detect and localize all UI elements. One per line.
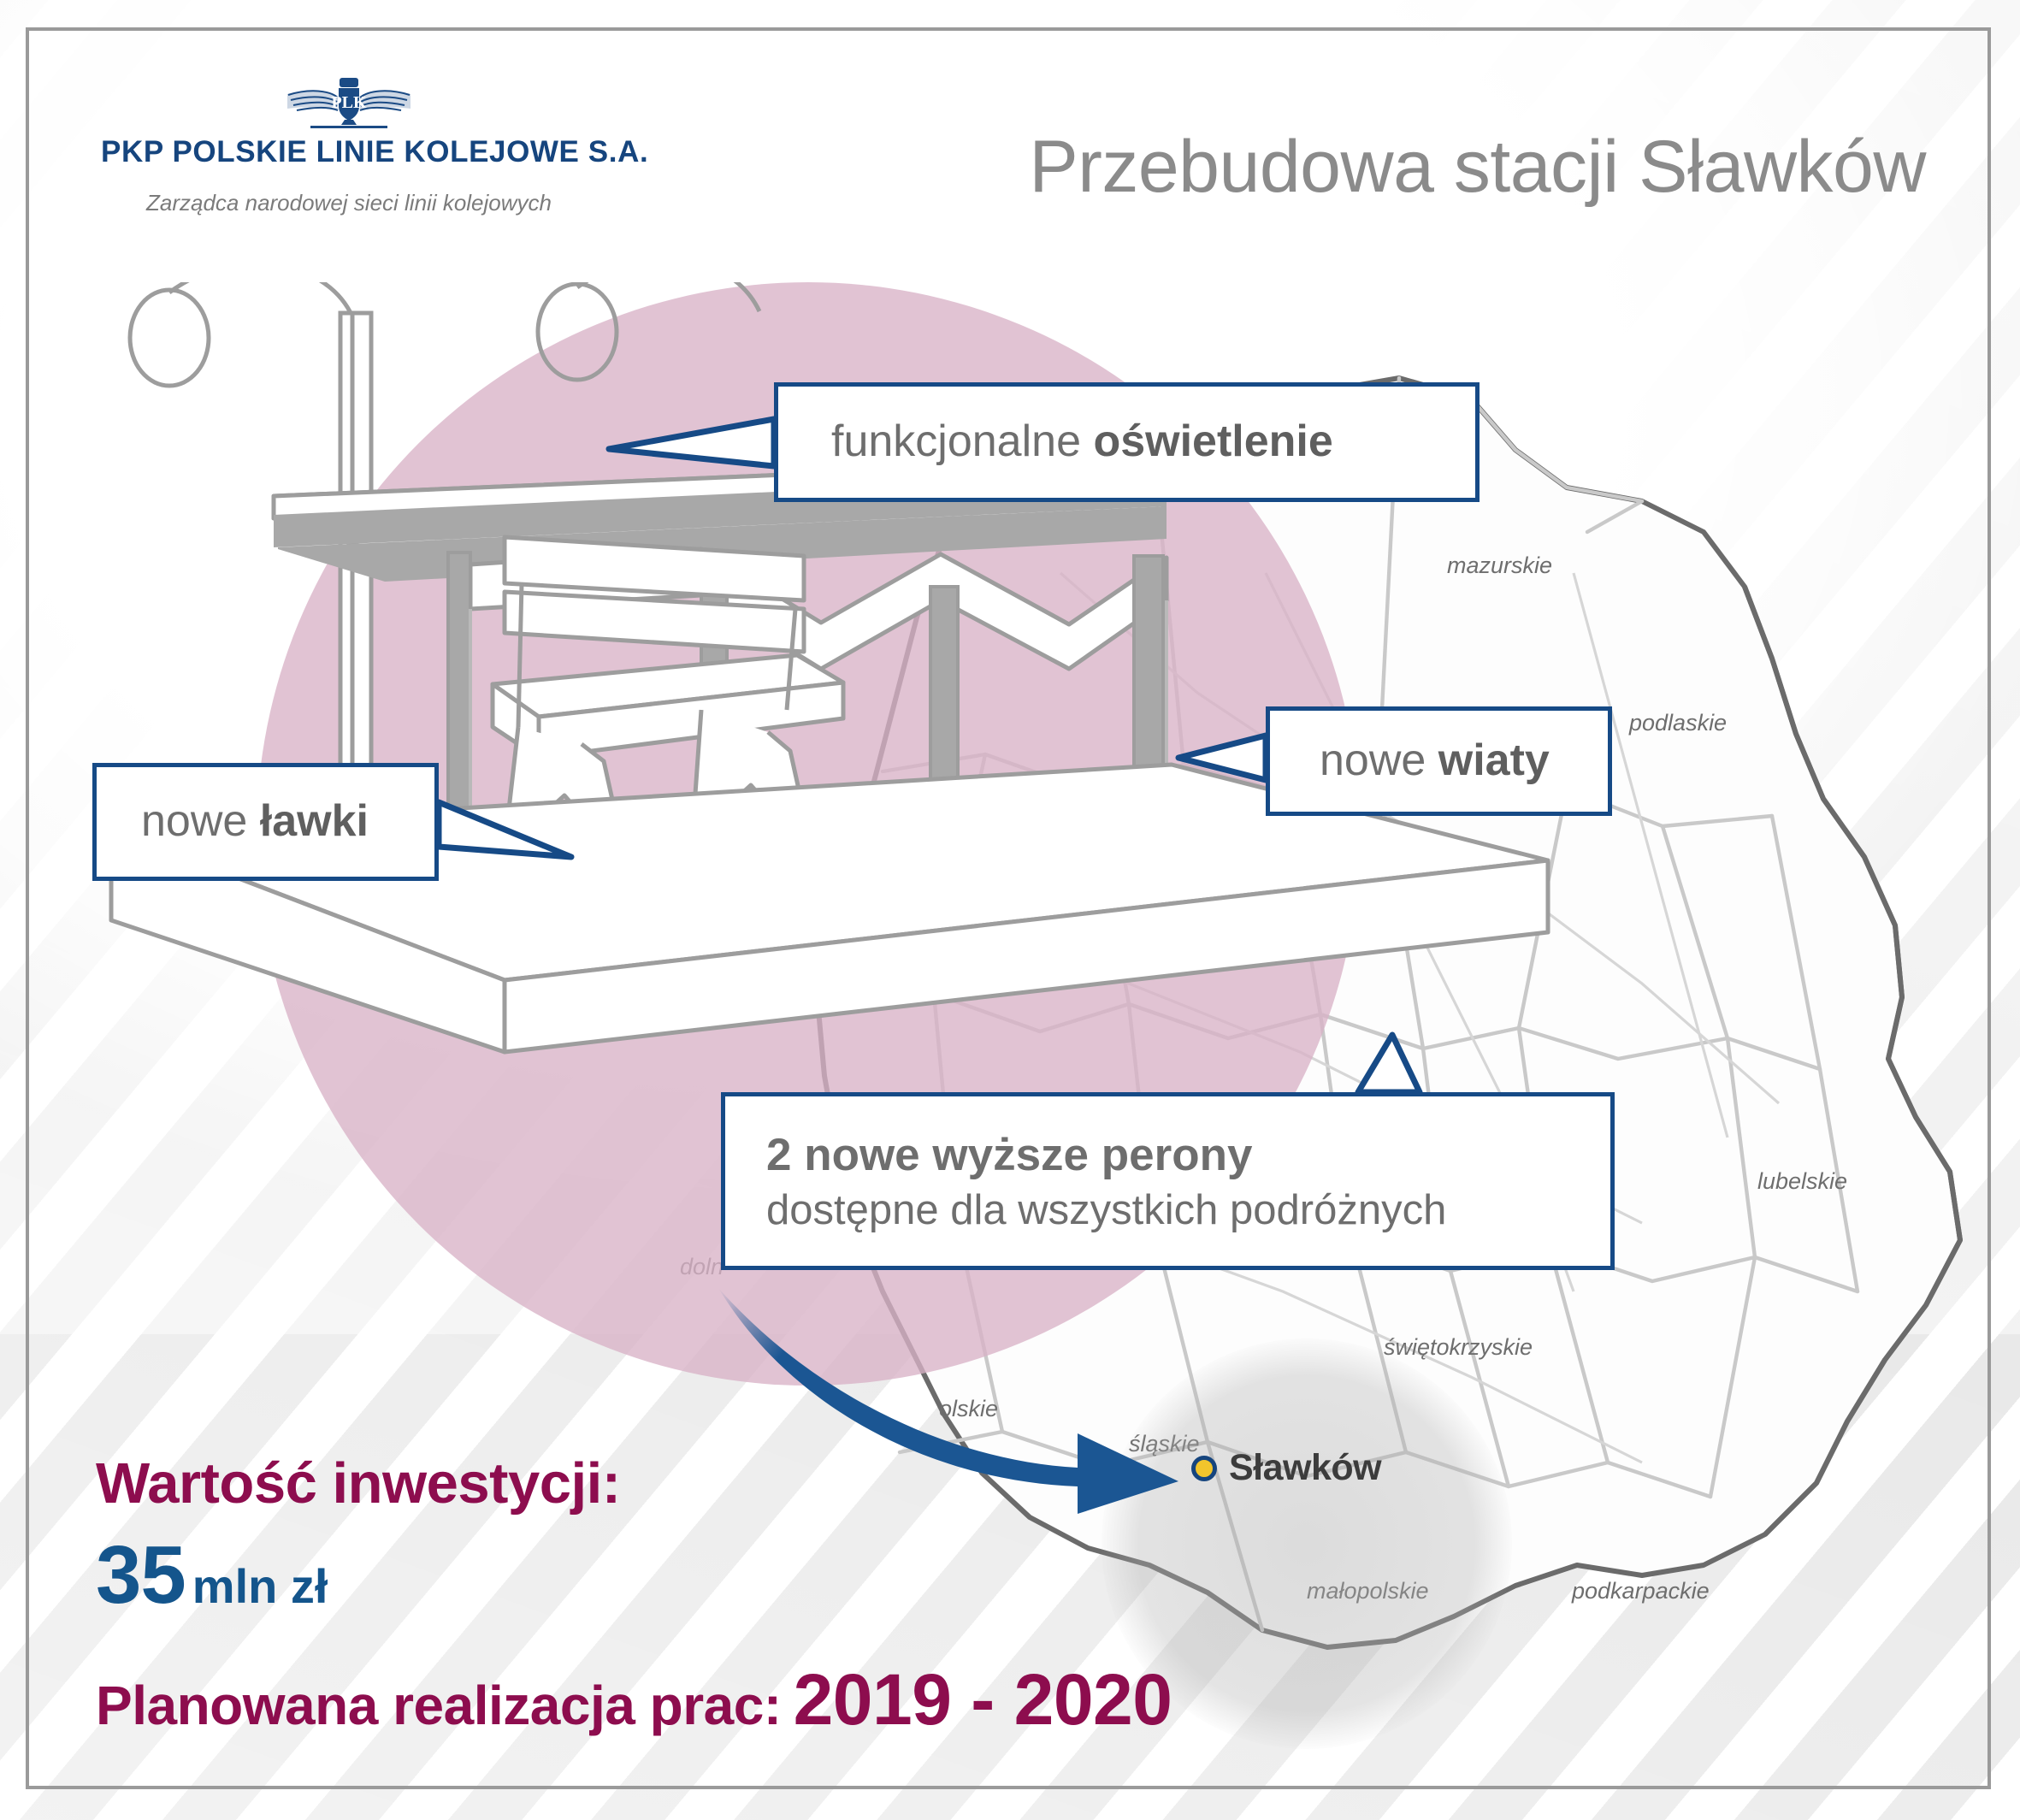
callout-shelters-plain: nowe <box>1320 736 1438 785</box>
investment-number: 35 <box>96 1529 186 1621</box>
callout-lighting[interactable]: funkcjonalne oświetlenie <box>774 382 1480 502</box>
map-label-podkarpackie: podkarpackie <box>1572 1578 1710 1604</box>
plk-winged-logo-icon: PLK <box>285 75 413 130</box>
callout-benches-plain: nowe <box>141 796 260 846</box>
footer-block: Wartość inwestycji: 35mln zł Planowana r… <box>96 1451 1293 1741</box>
callout-benches-text: nowe ławki <box>141 795 369 848</box>
pkp-logo-block: PLK PKP POLSKIE LINIE KOLEJOWE S.A. Zarz… <box>101 75 597 216</box>
callout-lighting-plain: funkcjonalne <box>831 417 1093 466</box>
callout-benches[interactable]: nowe ławki <box>92 763 439 881</box>
company-tagline: Zarządca narodowej sieci linii kolejowyc… <box>101 190 597 216</box>
schedule-label: Planowana realizacja prac: <box>96 1675 782 1736</box>
callout-lighting-text: funkcjonalne oświetlenie <box>831 415 1333 469</box>
callout-shelters-bold: wiaty <box>1438 736 1550 785</box>
investment-value: 35mln zł <box>96 1528 1293 1622</box>
investment-unit: mln zł <box>192 1559 328 1613</box>
map-label-lubelskie: lubelskie <box>1757 1168 1847 1195</box>
map-label-witokrzyskie: świętokrzyskie <box>1384 1334 1533 1361</box>
schedule-years: 2019 - 2020 <box>794 1659 1172 1740</box>
callout-platforms-line2: dostępne dla wszystkich podróżnych <box>766 1186 1446 1234</box>
investment-value-label: Wartość inwestycji: <box>96 1451 1293 1516</box>
callout-lighting-bold: oświetlenie <box>1093 417 1332 466</box>
company-name: PKP POLSKIE LINIE KOLEJOWE S.A. <box>101 135 597 169</box>
svg-text:PLK: PLK <box>331 93 367 112</box>
page-title: Przebudowa stacji Sławków <box>1029 125 1926 210</box>
callout-platforms[interactable]: 2 nowe wyższe perony dostępne dla wszyst… <box>721 1092 1615 1270</box>
callout-benches-bold: ławki <box>260 796 369 846</box>
callout-platforms-line1: 2 nowe wyższe perony <box>766 1129 1252 1181</box>
schedule-line: Planowana realizacja prac:2019 - 2020 <box>96 1658 1293 1741</box>
callout-shelters[interactable]: nowe wiaty <box>1266 706 1612 816</box>
callout-shelters-text: nowe wiaty <box>1320 734 1550 788</box>
